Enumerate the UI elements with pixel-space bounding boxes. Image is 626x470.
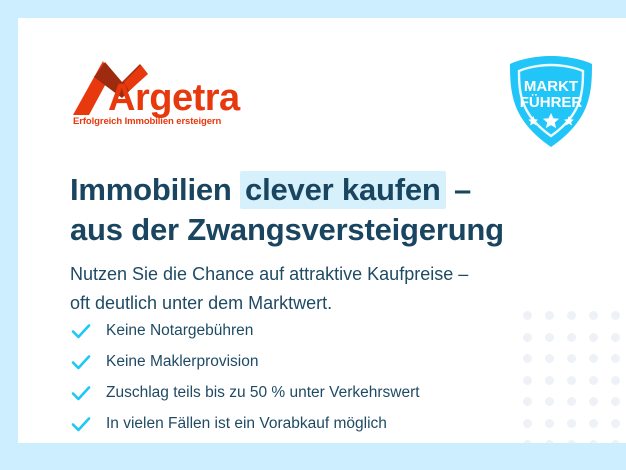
headline: Immobilien clever kaufen – aus der Zwang… xyxy=(70,170,570,250)
decorative-dot xyxy=(545,333,554,342)
list-item-label: Zuschlag teils bis zu 50 % unter Verkehr… xyxy=(106,384,420,402)
headline-prefix: Immobilien xyxy=(70,172,240,207)
logo-tagline: Erfolgreich Immobilien ersteigern xyxy=(73,116,222,127)
benefit-list: Keine Notargebühren Keine Maklerprovisio… xyxy=(70,315,530,439)
decorative-dot xyxy=(611,397,620,406)
subheadline: Nutzen Sie die Chance auf attraktive Kau… xyxy=(70,260,590,318)
decorative-dot xyxy=(611,419,620,428)
decorative-dot xyxy=(545,397,554,406)
decorative-dot xyxy=(545,440,554,443)
decorative-dot xyxy=(545,354,554,363)
list-item-label: Keine Notargebühren xyxy=(106,322,253,340)
list-item: Zuschlag teils bis zu 50 % unter Verkehr… xyxy=(70,377,530,408)
badge-line1: MARKT xyxy=(524,78,578,95)
decorative-dot xyxy=(589,333,598,342)
check-icon xyxy=(70,413,92,435)
check-icon xyxy=(70,351,92,373)
decorative-dot xyxy=(589,419,598,428)
decorative-dot xyxy=(545,376,554,385)
decorative-dot xyxy=(589,376,598,385)
decorative-dot xyxy=(567,440,576,443)
decorative-dot xyxy=(611,354,620,363)
badge-line2: FÜHRER xyxy=(520,94,583,111)
decorative-dot xyxy=(589,440,598,443)
decorative-dot xyxy=(567,354,576,363)
list-item: Keine Notargebühren xyxy=(70,315,530,346)
check-icon xyxy=(70,382,92,404)
decorative-dot xyxy=(523,440,532,443)
headline-highlight: clever kaufen xyxy=(240,171,446,209)
decorative-dot xyxy=(611,333,620,342)
list-item: In vielen Fällen ist ein Vorabkauf mögli… xyxy=(70,408,530,439)
list-item: Keine Maklerprovision xyxy=(70,346,530,377)
decorative-dot xyxy=(545,419,554,428)
decorative-dot-grid xyxy=(516,305,626,443)
list-item-label: Keine Maklerprovision xyxy=(106,353,259,371)
argetra-logo: Argetra Erfolgreich Immobilien ersteiger… xyxy=(72,58,272,128)
decorative-dot xyxy=(567,333,576,342)
subheadline-line-1: Nutzen Sie die Chance auf attraktive Kau… xyxy=(70,260,590,289)
subheadline-line-2: oft deutlich unter dem Marktwert. xyxy=(70,289,590,318)
decorative-dot xyxy=(611,376,620,385)
svg-text:Argetra: Argetra xyxy=(108,77,241,119)
headline-line-2: aus der Zwangsversteigerung xyxy=(70,210,570,250)
check-icon xyxy=(70,320,92,342)
decorative-dot xyxy=(567,376,576,385)
decorative-dot xyxy=(589,397,598,406)
decorative-dot xyxy=(567,419,576,428)
promo-banner: Argetra Erfolgreich Immobilien ersteiger… xyxy=(0,0,626,470)
headline-suffix: – xyxy=(446,172,471,207)
decorative-dot xyxy=(611,440,620,443)
market-leader-badge: MARKT FÜHRER xyxy=(506,54,596,150)
decorative-dot xyxy=(611,311,620,320)
decorative-dot xyxy=(589,354,598,363)
banner-card: Argetra Erfolgreich Immobilien ersteiger… xyxy=(18,18,626,443)
decorative-dot xyxy=(567,397,576,406)
headline-line-1: Immobilien clever kaufen – xyxy=(70,170,570,210)
list-item-label: In vielen Fällen ist ein Vorabkauf mögli… xyxy=(106,415,387,433)
